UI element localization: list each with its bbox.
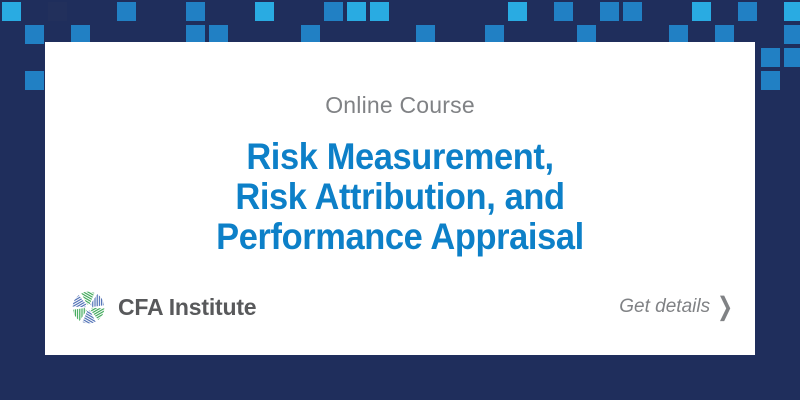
chevron-right-icon: ❯ (717, 294, 733, 320)
course-banner: Online Course Risk Measurement, Risk Att… (0, 0, 800, 400)
mosaic-tile (25, 25, 44, 44)
course-title-line-2: Risk Attribution, and (70, 177, 730, 217)
mosaic-tile (255, 2, 274, 21)
get-details-label: Get details (619, 296, 710, 318)
mosaic-tile (370, 2, 389, 21)
mosaic-tile (784, 25, 800, 44)
mosaic-tile (623, 2, 642, 21)
mosaic-tile (600, 2, 619, 21)
mosaic-tile (347, 2, 366, 21)
course-title: Risk Measurement, Risk Attribution, and … (70, 137, 730, 257)
mosaic-tile (117, 2, 136, 21)
course-type-label: Online Course (45, 94, 755, 117)
cfa-institute-wordmark: CFA Institute (118, 296, 256, 319)
cfa-institute-logo: CFA Institute (70, 285, 256, 329)
mosaic-tile (761, 71, 780, 90)
mosaic-tile (324, 2, 343, 21)
mosaic-tile (784, 48, 800, 67)
mosaic-tile (48, 2, 67, 21)
mosaic-tile (761, 48, 780, 67)
mosaic-tile (2, 2, 21, 21)
mosaic-tile (186, 2, 205, 21)
mosaic-tile (738, 2, 757, 21)
get-details-link[interactable]: Get details ❯ (619, 285, 733, 329)
mosaic-tile (554, 2, 573, 21)
content-card: Online Course Risk Measurement, Risk Att… (45, 42, 755, 355)
cfa-pinwheel-logo-icon (70, 289, 107, 326)
mosaic-tile (784, 2, 800, 21)
mosaic-tile (25, 71, 44, 90)
course-title-line-3: Performance Appraisal (70, 217, 730, 257)
card-footer: CFA Institute Get details ❯ (45, 285, 755, 329)
mosaic-tile (508, 2, 527, 21)
mosaic-tile (692, 2, 711, 21)
course-title-line-1: Risk Measurement, (70, 137, 730, 177)
